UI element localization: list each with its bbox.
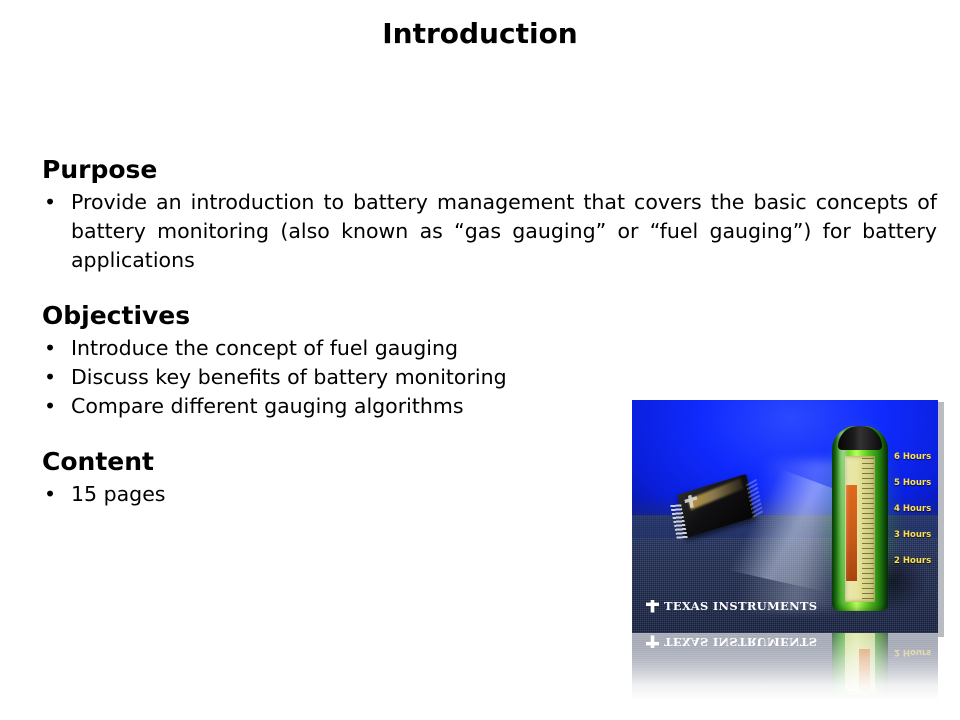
section-heading-purpose: Purpose bbox=[42, 155, 922, 185]
list-item-text: Introduce the concept of fuel gauging bbox=[71, 336, 458, 360]
battery-highlight bbox=[839, 430, 846, 606]
bullet-icon: • bbox=[44, 188, 56, 217]
list-item: • 15 pages bbox=[42, 480, 631, 509]
ti-battery-illustration: 6 Hours 5 Hours 4 Hours 3 Hours 2 Hours … bbox=[632, 400, 944, 700]
list-item: • Compare different gauging algorithms bbox=[42, 392, 631, 421]
list-item-text: Compare different gauging algorithms bbox=[71, 394, 464, 418]
list-item: • Provide an introduction to battery man… bbox=[42, 188, 937, 275]
hour-label-5: 5 Hours bbox=[894, 478, 938, 488]
ti-wordmark: Texas Instruments bbox=[664, 599, 817, 613]
battery-gauge-scale bbox=[862, 458, 874, 600]
battery-charge-level bbox=[846, 485, 857, 581]
bullet-list-purpose: • Provide an introduction to battery man… bbox=[42, 188, 922, 275]
section-purpose: Purpose • Provide an introduction to bat… bbox=[42, 155, 922, 275]
list-item-text: Provide an introduction to battery manag… bbox=[71, 190, 937, 272]
ti-logo-icon bbox=[646, 600, 659, 613]
hour-label-4: 4 Hours bbox=[894, 504, 938, 514]
bullet-icon: • bbox=[44, 363, 56, 392]
bullet-icon: • bbox=[44, 392, 56, 421]
page-title: Introduction bbox=[0, 17, 960, 50]
ti-brand-lockup: Texas Instruments bbox=[646, 599, 817, 613]
picture-reflection: Texas Instruments 2 Hours bbox=[632, 633, 938, 700]
bullet-icon: • bbox=[44, 480, 56, 509]
battery-graphic bbox=[832, 426, 888, 611]
list-item: • Discuss key benefits of battery monito… bbox=[42, 363, 631, 392]
hour-label-6: 6 Hours bbox=[894, 452, 938, 462]
picture-frame: 6 Hours 5 Hours 4 Hours 3 Hours 2 Hours … bbox=[632, 400, 938, 633]
reflection-fade-overlay bbox=[632, 633, 938, 700]
battery-can bbox=[832, 426, 888, 611]
hour-label-group: 6 Hours 5 Hours 4 Hours 3 Hours 2 Hours bbox=[894, 452, 938, 582]
bullet-icon: • bbox=[44, 334, 56, 363]
hour-label-2: 2 Hours bbox=[894, 556, 938, 566]
list-item-text: Discuss key benefits of battery monitori… bbox=[71, 365, 507, 389]
hour-label-3: 3 Hours bbox=[894, 530, 938, 540]
section-heading-objectives: Objectives bbox=[42, 301, 922, 331]
list-item: • Introduce the concept of fuel gauging bbox=[42, 334, 631, 363]
list-item-text: 15 pages bbox=[71, 482, 165, 506]
